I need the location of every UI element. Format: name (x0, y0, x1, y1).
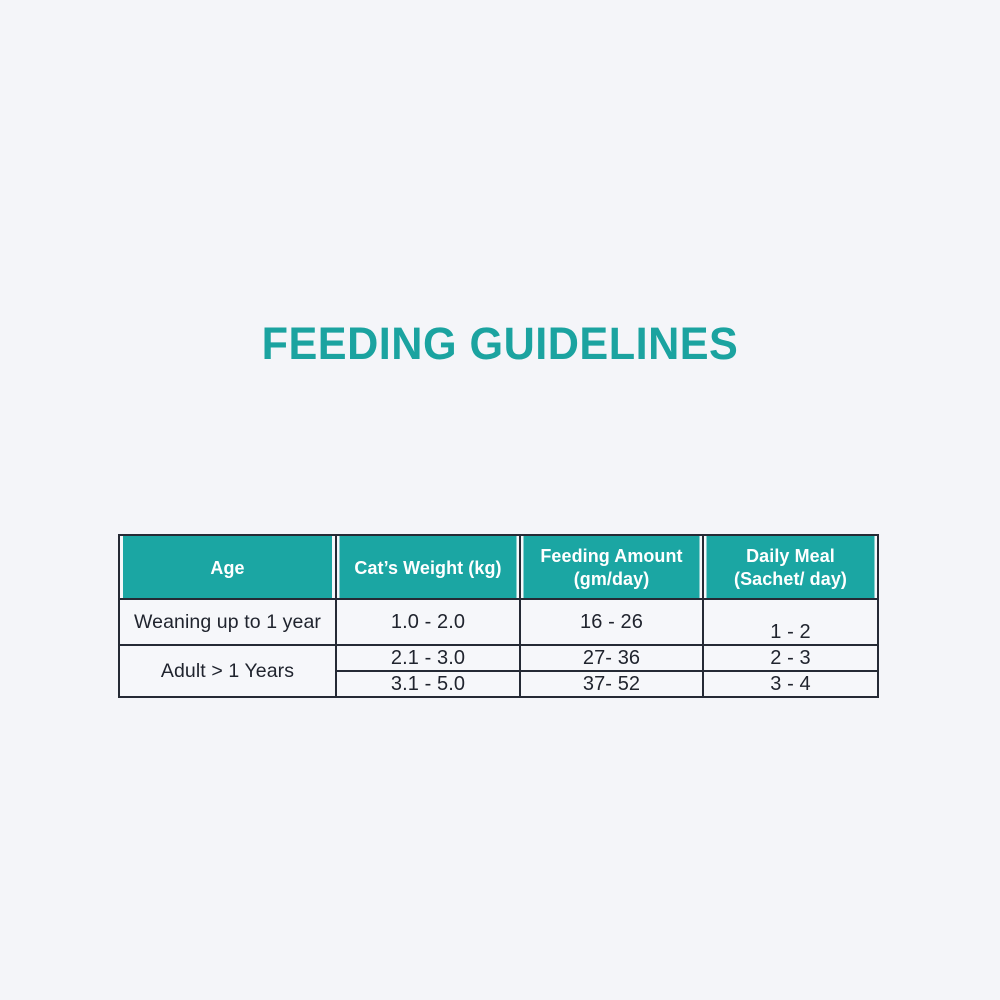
cell-meals-adult-first: 2 - 3 (703, 645, 878, 671)
table-row-weaning: Weaning up to 1 year 1.0 - 2.0 16 - 26 1… (119, 599, 878, 645)
cell-age-weaning: Weaning up to 1 year (119, 599, 336, 645)
table-body: Weaning up to 1 year 1.0 - 2.0 16 - 26 1… (119, 599, 878, 697)
column-header-age-line1: Age (123, 556, 332, 579)
column-header-daily-meal-line2: (Sachet/ day) (707, 567, 875, 590)
cell-weight-adult-first: 2.1 - 3.0 (336, 645, 520, 671)
table-header-row: Age Cat’s Weight (kg) Feeding Amount (gm… (119, 535, 878, 599)
column-header-feeding-amount-line1: Feeding Amount (524, 544, 700, 567)
column-header-cats-weight: Cat’s Weight (kg) (339, 535, 517, 599)
page-root: FEEDING GUIDELINES Age Cat’s Weight (kg) (0, 0, 1000, 1000)
cell-amount-weaning: 16 - 26 (520, 599, 703, 645)
feeding-guidelines-table-wrapper: Age Cat’s Weight (kg) Feeding Amount (gm… (118, 534, 877, 698)
table-header: Age Cat’s Weight (kg) Feeding Amount (gm… (119, 535, 878, 599)
column-header-daily-meal-line1: Daily Meal (707, 544, 875, 567)
cell-weight-adult-second: 3.1 - 5.0 (336, 671, 520, 697)
column-header-feeding-amount: Feeding Amount (gm/day) (523, 535, 701, 599)
page-title: FEEDING GUIDELINES (20, 315, 980, 373)
cell-weight-weaning: 1.0 - 2.0 (336, 599, 520, 645)
column-header-feeding-amount-line2: (gm/day) (524, 567, 700, 590)
cell-amount-adult-second: 37- 52 (520, 671, 703, 697)
cell-amount-adult-first: 27- 36 (520, 645, 703, 671)
column-header-age: Age (122, 535, 332, 599)
cell-meals-weaning: 1 - 2 (703, 599, 878, 645)
column-header-daily-meal: Daily Meal (Sachet/ day) (706, 535, 876, 599)
feeding-guidelines-table: Age Cat’s Weight (kg) Feeding Amount (gm… (118, 534, 879, 698)
cell-age-adult: Adult > 1 Years (119, 645, 336, 697)
cell-meals-adult-second: 3 - 4 (703, 671, 878, 697)
column-header-cats-weight-line1: Cat’s Weight (kg) (340, 556, 517, 579)
table-row-adult-first: Adult > 1 Years 2.1 - 3.0 27- 36 2 - 3 (119, 645, 878, 671)
